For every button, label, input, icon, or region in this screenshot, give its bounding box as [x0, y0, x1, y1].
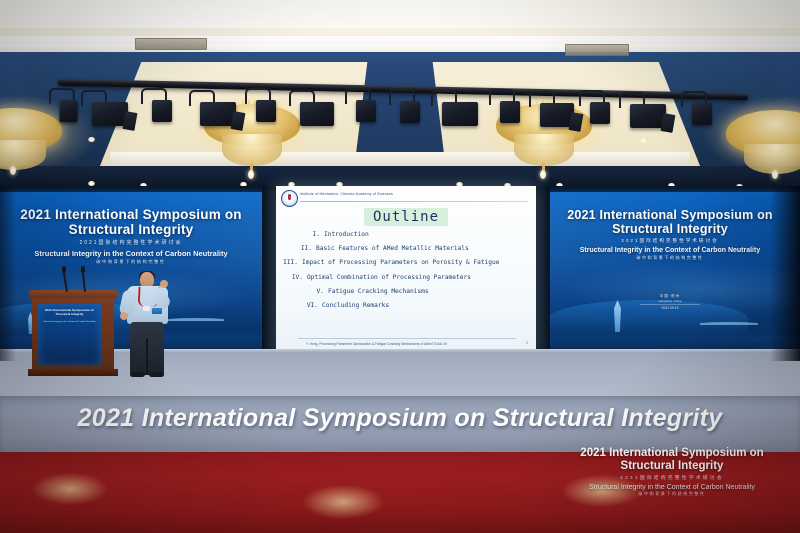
speaker-hand-left: [120, 312, 128, 320]
outline-item-number: V.: [276, 289, 328, 295]
event-date: 2021.09.10: [640, 304, 700, 310]
microphone-head-left: [62, 266, 66, 273]
outline-item-text: Basic Features of AMed Metallic Material…: [316, 246, 469, 252]
lower-banner-cn: 2021国际结构完整性学术研讨会: [552, 475, 792, 481]
speaker-person: [118, 272, 178, 377]
podium-subtitle: Structural Integrity in the Context of C…: [38, 321, 101, 323]
podium: 2021 International Symposium on Structur…: [32, 290, 114, 376]
ceiling-vent-left: [135, 38, 207, 50]
right-edge-shadow: [770, 186, 800, 361]
outline-item: III. Impact of Processing Parameters on …: [276, 260, 536, 266]
downlight: [88, 137, 95, 142]
outline-item-text: Concluding Remarks: [322, 303, 389, 309]
slide-footer-rule: [298, 338, 516, 339]
ceiling-dark-band: [0, 166, 800, 188]
outline-item: V. Fatigue Cracking Mechanisms: [276, 289, 536, 295]
bridge-graphic-right: [700, 322, 758, 325]
carpet-ornament: [30, 472, 110, 506]
speaker-shoe-left: [130, 372, 145, 377]
banner-subtitle-cn: 碳中和背景下的结构完整性: [552, 255, 788, 261]
led-banner-left: 2021 International Symposium on Structur…: [6, 208, 256, 265]
lower-banner-subtitle-cn: 碳中和背景下的结构完整性: [552, 491, 792, 497]
slide-header-rule: [300, 201, 528, 202]
slide-footer-text: Y. Hong, Processing Parameter Optimizati…: [306, 342, 447, 346]
outline-item-number: III.: [276, 260, 302, 266]
banner-title-line1: 2021 International Symposium on: [20, 207, 242, 222]
podium-title-line2: Structural Integrity: [56, 312, 84, 316]
conference-stage-photo: 2021 International Symposium on Structur…: [0, 0, 800, 533]
chandelier-far-right: [726, 110, 800, 180]
speaker-hand-right: [160, 280, 168, 288]
outline-item-text: Introduction: [324, 232, 369, 238]
banner-subtitle-cn: 碳中和背景下的结构完整性: [6, 259, 256, 265]
banner-title-line2: Structural Integrity: [612, 222, 728, 236]
downlight: [640, 138, 647, 143]
slide-title: Outline: [364, 208, 448, 226]
microphone-head-right: [81, 266, 85, 273]
banner-subtitle: Structural Integrity in the Context of C…: [552, 247, 788, 254]
banner-title-cn: 2021国际结构完整性学术研讨会: [6, 239, 256, 246]
presentation-clicker: [152, 308, 162, 314]
panel-gap-right: [536, 186, 550, 354]
lower-banner-line1: 2021 International Symposium on: [580, 447, 763, 459]
outline-item-text: Fatigue Cracking Mechanisms: [328, 289, 429, 295]
left-edge-shadow: [0, 186, 16, 361]
stage-band-title: 2021 International Symposium on Structur…: [0, 404, 800, 433]
outline-item: VI. Concluding Remarks: [276, 303, 536, 309]
outline-item: II. Basic Features of AMed Metallic Mate…: [276, 246, 536, 252]
outline-item-number: VI.: [276, 303, 322, 309]
outline-item: IV. Optimal Combination of Processing Pa…: [276, 275, 536, 281]
banner-title-cn: 2021国际结构完整性学术研讨会: [552, 238, 788, 244]
lower-overlay-banner: 2021 International Symposium on Structur…: [552, 447, 792, 509]
banner-title-line1: 2021 International Symposium on: [567, 208, 773, 222]
outline-item-number: II.: [276, 246, 316, 252]
speaker-badge: [143, 306, 150, 311]
speaker-leg-split: [146, 338, 148, 375]
slide-outline-list: I. Introduction II. Basic Features of AM…: [276, 232, 536, 317]
outline-item-text: Impact of Processing Parameters on Poros…: [302, 260, 499, 266]
speaker-shoe-right: [149, 372, 164, 377]
outline-item: I. Introduction: [276, 232, 536, 238]
slide-page-number: 2: [526, 341, 528, 345]
banner-title-line2: Structural Integrity: [69, 222, 194, 237]
chandelier-far-left: [0, 108, 62, 178]
carpet-ornament: [300, 484, 386, 520]
cas-institute-logo-icon: [281, 190, 298, 207]
outline-item-text: Optimal Combination of Processing Parame…: [307, 275, 471, 281]
panel-gap-left: [262, 186, 276, 354]
lower-banner-line2: Structural Integrity: [621, 460, 724, 472]
led-banner-location-block: 中国·杭州 Hangzhou, China 2021.09.10: [640, 294, 700, 310]
led-banner-right: 2021 International Symposium on Structur…: [552, 209, 788, 261]
podium-base: [28, 369, 118, 376]
location-en: Hangzhou, China: [640, 299, 700, 303]
slide-header-text: Institute of Mechanics, Chinese Academy …: [300, 192, 393, 196]
outline-item-number: I.: [276, 232, 324, 238]
presentation-slide: Institute of Mechanics, Chinese Academy …: [276, 186, 536, 359]
ceiling-vent-right: [565, 44, 629, 56]
podium-banner-panel: 2021 International Symposium on Structur…: [38, 304, 101, 366]
outline-item-number: IV.: [276, 275, 307, 281]
banner-subtitle: Structural Integrity in the Context of C…: [6, 249, 256, 258]
